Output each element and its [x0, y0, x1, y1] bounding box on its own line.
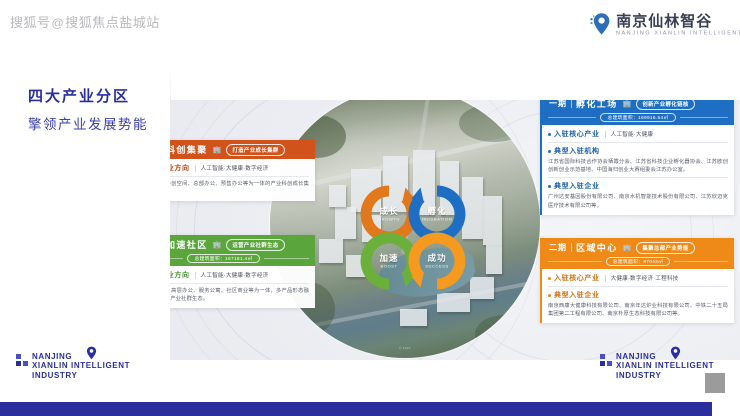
brand-name-cn: 南京仙林智谷 [616, 14, 730, 30]
card-phase4[interactable]: 四期 科创集聚 🏢 打造产业成长集群 核心产业方向 人工智能·大健康·数字经济 [170, 140, 315, 201]
card-phase1-area: 总建筑面积：169916.54㎡ [600, 113, 675, 122]
card-phase3-title: 加速社区 [170, 238, 208, 251]
building-icon: 🏢 [213, 241, 222, 249]
card-phase1-section-1: 入驻核心产业 人工智能·大健康 [548, 129, 728, 139]
card-phase2-area: 总建筑面积：87043㎡ [606, 257, 671, 266]
card-phase4-pill: 打造产业成长集群 [226, 144, 284, 156]
card-phase1-pill: 创新产业孵化链核 [636, 100, 694, 110]
card-phase4-sec2-text: 打造集高端科创空间、总部办公、预售办公等为一体的产业科创成长集群。 [170, 180, 309, 196]
card-phase2-sec1-value: 大健康·数字经济·工程科技 [611, 274, 679, 282]
footer-line-2: XIANLIN INTELLIGENT [616, 361, 714, 370]
brand-text-block: 南京仙林智谷 NANJING XIANLIN INTELLIGENT INDUS… [616, 14, 730, 35]
card-phase1-sec3-text: 广州达安基因股份有限公司、南京水机智能技术股份有限公司、江苏欣迈克医疗技术有限公… [548, 193, 728, 209]
sohu-watermark-suffix: 搜狐焦点盐城站 [65, 15, 160, 30]
card-phase1[interactable]: 一期 孵化工场 🏢 创新产业孵化链核 总建筑面积：169916.54㎡ 入驻核心… [540, 100, 734, 215]
ring-success: 成功 SUCCESS [408, 232, 466, 290]
page-title-main: 四大产业分区 [28, 86, 148, 109]
card-phase3[interactable]: 三期 加速社区 🏢 运营产业社群生态 总建筑面积：167181.4㎡ 核心产业方… [170, 235, 315, 308]
four-phase-ring-diagram: 成长 GROWTH 孵化 INCUBATION [360, 185, 470, 290]
card-phase1-sec1-title: 入驻核心产业 [554, 129, 600, 139]
bullet-dot-icon [548, 277, 551, 280]
location-pin-icon [590, 12, 610, 36]
footer-line-1: NANJING [616, 352, 714, 361]
footer-line-3: INDUSTRY [616, 371, 714, 380]
card-phase2-body: 入驻核心产业 大健康·数字经济·工程科技 典型入驻企业 南京西康大健康科技有限公… [542, 269, 734, 323]
card-phase3-pill: 运营产业社群生态 [226, 239, 284, 251]
card-phase3-body: 核心产业方向 人工智能·大健康·数字经济 集花园办公、高层办公、服务公寓、社区商… [170, 266, 315, 308]
footer-line-2: XIANLIN INTELLIGENT [32, 361, 130, 370]
page-title: 四大产业分区 擎领产业发展势能 [28, 86, 148, 135]
footer-line-1: NANJING [32, 352, 130, 361]
brand-name-en: NANJING XIANLIN INTELLIGENT INDUSTRY [616, 30, 740, 36]
card-phase1-sec1-value: 人工智能·大健康 [611, 130, 654, 138]
card-phase2-pill: 集聚总部产业势能 [636, 242, 694, 254]
content-stage: © 2021 成长 GROWTH 孵化 [170, 100, 740, 360]
card-phase2-sec1-title: 入驻核心产业 [554, 273, 600, 283]
card-phase1-section-3: 典型入驻企业 广州达安基因股份有限公司、南京水机智能技术股份有限公司、江苏欣迈克… [548, 181, 728, 209]
bullet-dot-icon [548, 185, 551, 188]
footer-logo-right-text: NANJING XIANLIN INTELLIGENT INDUSTRY [616, 352, 714, 380]
card-phase4-body: 核心产业方向 人工智能·大健康·数字经济 打造集高端科创空间、总部办公、预售办公… [170, 159, 315, 201]
card-phase3-header: 三期 加速社区 🏢 运营产业社群生态 [170, 235, 315, 254]
card-phase2-section-2: 典型入驻企业 南京西康大健康科技有限公司、南京年达炉业科技有限公司、中铁二十五局… [548, 290, 728, 318]
card-phase1-sec2-text: 江苏省国际科技合作协会栖霞分会、江苏省科技企业孵化器协会、江苏欧创创新创业示范基… [548, 158, 728, 174]
card-phase1-section-2: 典型入驻机构 江苏省国际科技合作协会栖霞分会、江苏省科技企业孵化器协会、江苏欧创… [548, 146, 728, 174]
pixel-squares-icon [16, 354, 28, 366]
card-phase1-area-row: 总建筑面积：169916.54㎡ [542, 113, 734, 125]
card-phase2-sec2-text: 南京西康大健康科技有限公司、南京年达炉业科技有限公司、中铁二十五局集团第二工程有… [548, 302, 728, 318]
card-phase1-sec3-title: 典型入驻企业 [554, 181, 600, 191]
card-phase2-area-row: 总建筑面积：87043㎡ [542, 257, 734, 269]
page-title-sub: 擎领产业发展势能 [28, 114, 148, 136]
card-phase4-sec1-title: 核心产业方向 [170, 163, 190, 173]
card-phase1-phase: 一期 [549, 100, 567, 109]
location-pin-icon [670, 346, 681, 362]
card-phase2-title: 区域中心 [576, 241, 618, 254]
location-pin-icon [86, 346, 97, 362]
sohu-watermark: 搜狐号@搜狐焦点盐城站 [10, 12, 160, 31]
aerial-photo-credit: © 2021 [399, 346, 411, 350]
card-phase2[interactable]: 二期 区域中心 🏢 集聚总部产业势能 总建筑面积：87043㎡ 入驻核心产业 大… [540, 238, 734, 323]
footer-logo-right: NANJING XIANLIN INTELLIGENT INDUSTRY [600, 352, 714, 380]
card-phase2-header: 二期 区域中心 🏢 集聚总部产业势能 [542, 238, 734, 257]
card-phase1-body: 入驻核心产业 人工智能·大健康 典型入驻机构 江苏省国际科技合作协会栖霞分会、江… [542, 125, 734, 215]
card-phase1-header: 一期 孵化工场 🏢 创新产业孵化链核 [542, 100, 734, 113]
bullet-dot-icon [548, 133, 551, 136]
building-icon: 🏢 [623, 100, 632, 108]
card-phase1-sec2-title: 典型入驻机构 [554, 146, 600, 156]
card-phase2-sec2-title: 典型入驻企业 [554, 290, 600, 300]
card-phase1-title: 孵化工场 [576, 100, 618, 110]
slide-canvas: 搜狐号@搜狐焦点盐城站 南京仙林智谷 NANJING XIANLIN INTEL… [0, 0, 740, 416]
building-icon: 🏢 [213, 146, 222, 154]
card-phase3-sec1-value: 人工智能·大健康·数字经济 [201, 271, 269, 279]
card-phase2-section-1: 入驻核心产业 大健康·数字经济·工程科技 [548, 273, 728, 283]
card-phase3-section-1: 核心产业方向 人工智能·大健康·数字经济 [170, 270, 309, 280]
footer-line-3: INDUSTRY [32, 371, 130, 380]
card-phase3-sec1-title: 核心产业方向 [170, 270, 190, 280]
sohu-watermark-prefix: 搜狐号 [10, 15, 51, 30]
bullet-dot-icon [548, 294, 551, 297]
card-phase4-title: 科创集聚 [170, 143, 208, 156]
footer-logo-left: NANJING XIANLIN INTELLIGENT INDUSTRY [16, 352, 130, 380]
card-phase3-sec2-text: 集花园办公、高层办公、服务公寓、社区商业等为一体，多产品形态融合，支撑打造产业社… [170, 287, 309, 303]
footer-logo-left-text: NANJING XIANLIN INTELLIGENT INDUSTRY [32, 352, 130, 380]
bottom-accent-bar [0, 402, 712, 416]
gray-square-decoration [705, 373, 725, 393]
brand-logo-top: 南京仙林智谷 NANJING XIANLIN INTELLIGENT INDUS… [590, 12, 730, 36]
card-phase2-phase: 二期 [549, 242, 567, 253]
card-phase3-section-2: 集花园办公、高层办公、服务公寓、社区商业等为一体，多产品形态融合，支撑打造产业社… [170, 287, 309, 303]
card-phase4-section-1: 核心产业方向 人工智能·大健康·数字经济 [170, 163, 309, 173]
card-phase3-area: 总建筑面积：167181.4㎡ [187, 254, 259, 263]
card-phase4-header: 四期 科创集聚 🏢 打造产业成长集群 [170, 140, 315, 159]
pixel-squares-icon [600, 354, 612, 366]
card-phase4-section-2: 打造集高端科创空间、总部办公、预售办公等为一体的产业科创成长集群。 [170, 180, 309, 196]
card-phase3-area-row: 总建筑面积：167181.4㎡ [170, 254, 315, 266]
building-icon: 🏢 [623, 244, 632, 252]
card-phase4-sec1-value: 人工智能·大健康·数字经济 [201, 164, 269, 172]
sohu-watermark-at: @ [52, 16, 65, 30]
bullet-dot-icon [548, 150, 551, 153]
